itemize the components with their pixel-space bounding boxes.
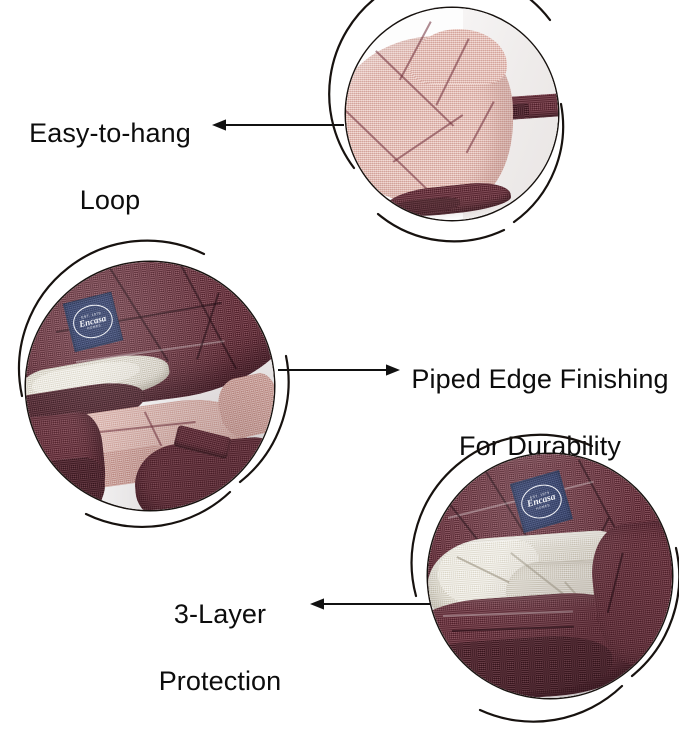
callout-line-1: Easy-to-hang: [12, 117, 208, 150]
infographic-canvas: Easy-to-hang Loop: [0, 0, 679, 738]
callout-line-2: Protection: [138, 665, 302, 698]
brand-label-bottom-text: HOMES: [87, 324, 102, 331]
product-photo-middle-left: EST. 1979 Encasa HOMES: [26, 262, 274, 510]
callout-line-2: Loop: [12, 184, 208, 217]
medallion-bottom-right: EST. 1979 Encasa HOMES: [406, 438, 679, 734]
medallion-top: [318, 0, 568, 300]
callout-line-1: 3-Layer: [138, 598, 302, 631]
arrow-to-easy-to-hang-loop: [212, 115, 344, 135]
arrow-to-piped-edge-finishing: [278, 360, 400, 380]
medallion-middle-left: EST. 1979 Encasa HOMES: [8, 248, 290, 534]
callout-three-layer-protection: 3-Layer Protection: [138, 565, 302, 732]
callout-line-1: Piped Edge Finishing: [404, 363, 676, 396]
product-photo-bottom-right: EST. 1979 Encasa HOMES: [428, 454, 672, 698]
callout-easy-to-hang-loop: Easy-to-hang Loop: [12, 84, 208, 251]
arrow-to-three-layer-protection: [310, 594, 432, 614]
product-photo-top: [346, 8, 558, 220]
